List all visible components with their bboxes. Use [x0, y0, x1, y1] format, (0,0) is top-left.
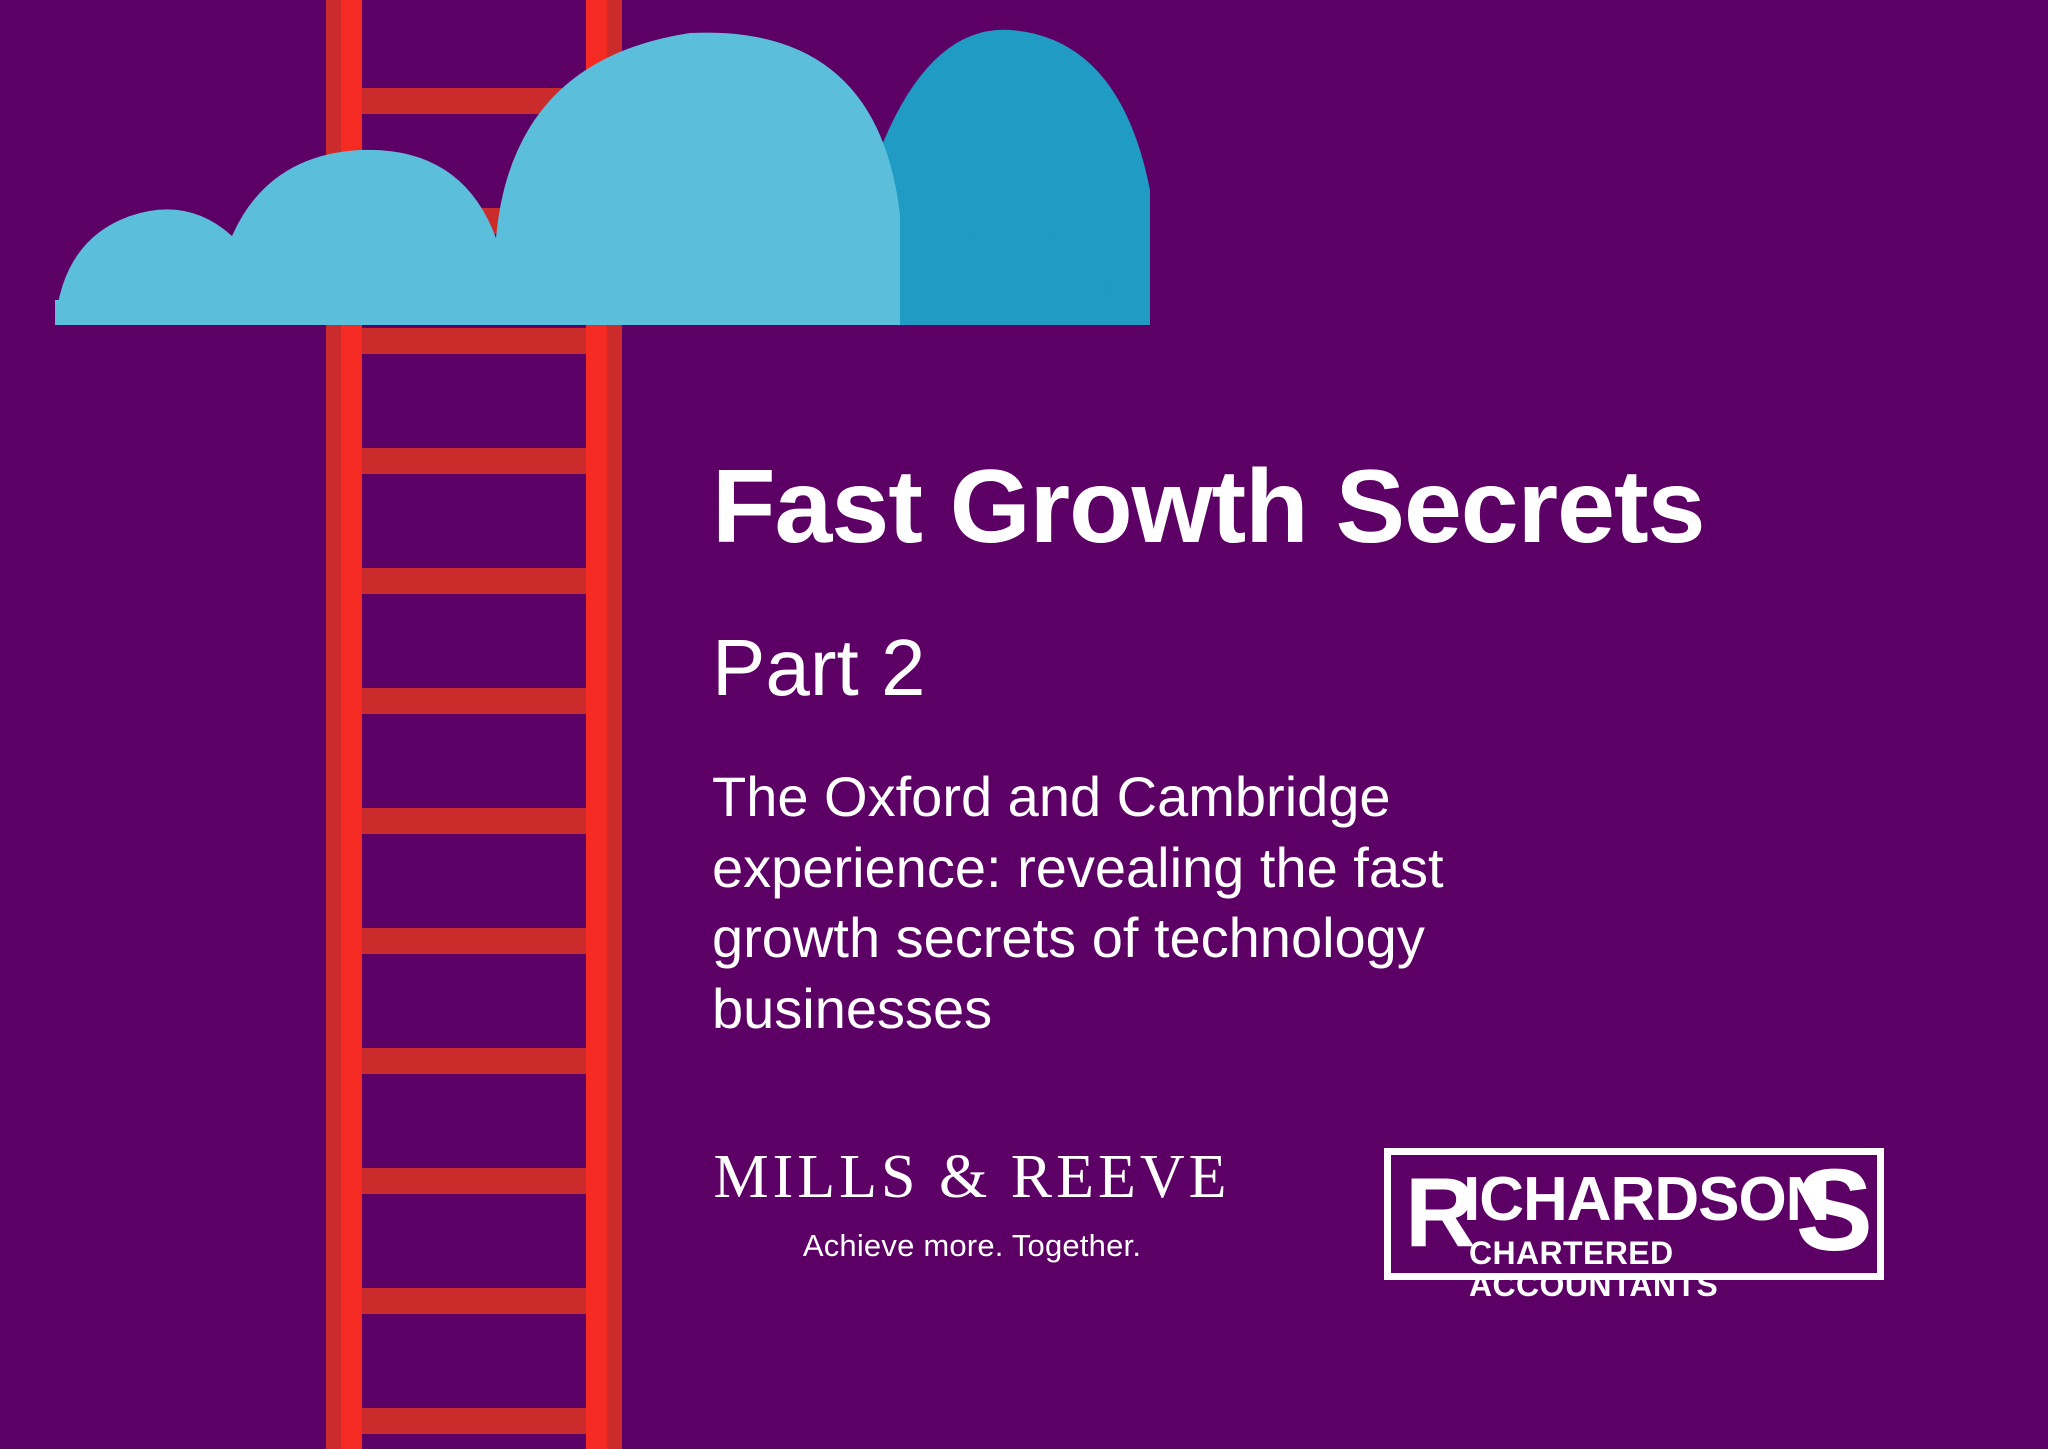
mills-reeve-wordmark: MILLS & REEVE: [712, 1146, 1232, 1208]
presentation-slide: Fast Growth Secrets Part 2 The Oxford an…: [0, 0, 2048, 1449]
richardsons-wordmark: ICHARDSON: [1463, 1171, 1829, 1228]
slide-part-label: Part 2: [712, 624, 1962, 712]
richardsons-logo: R ICHARDSON S CHARTERED ACCOUNTANTS: [1384, 1148, 1884, 1280]
richardsons-subtitle: CHARTERED ACCOUNTANTS: [1469, 1237, 1877, 1301]
mills-reeve-tagline: Achieve more. Together.: [712, 1230, 1232, 1261]
slide-subtitle: The Oxford and Cambridge experience: rev…: [712, 762, 1612, 1044]
mills-reeve-logo: MILLS & REEVE Achieve more. Together.: [712, 1146, 1232, 1261]
page-title: Fast Growth Secrets: [712, 452, 1962, 562]
richardsons-logo-inner: R ICHARDSON S CHARTERED ACCOUNTANTS: [1391, 1155, 1877, 1273]
logo-row: MILLS & REEVE Achieve more. Together. R …: [712, 1146, 1972, 1316]
slide-text-block: Fast Growth Secrets Part 2 The Oxford an…: [712, 452, 1962, 1044]
